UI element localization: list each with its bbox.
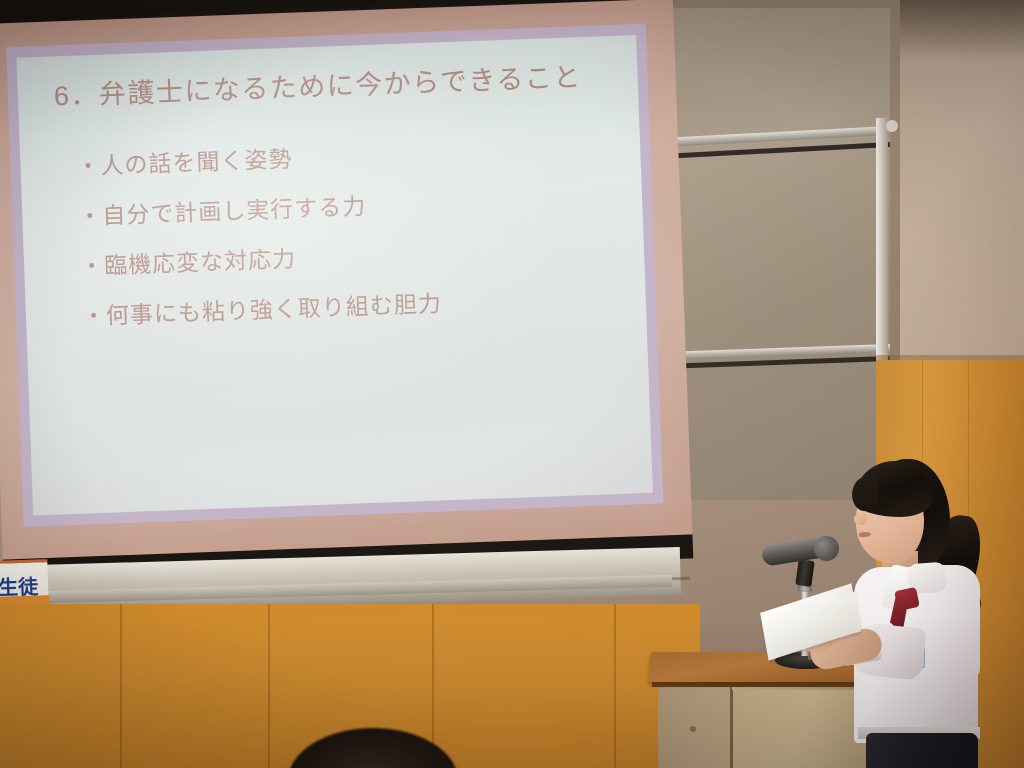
slide-bullet-list: ・人の話を聞く姿勢 ・自分で計画し実行する力 ・臨機応変な対応力 ・何事にも粘り…: [76, 134, 443, 331]
hair-fringe: [850, 476, 879, 513]
podium-fitting: [690, 726, 696, 732]
projection-screen: 6．弁護士になるために今からできること ・人の話を聞く姿勢 ・自分で計画し実行す…: [0, 0, 704, 590]
slide-bullet-3: ・臨機応変な対応力: [80, 234, 441, 281]
slide-bullet-2: ・自分で計画し実行する力: [78, 184, 439, 231]
projected-slide-border: 6．弁護士になるために今からできること ・人の話を聞く姿勢 ・自分で計画し実行す…: [6, 24, 663, 527]
projected-slide: 6．弁護士になるために今からできること ・人の話を聞く姿勢 ・自分で計画し実行す…: [17, 35, 653, 515]
slide-bullet-4: ・何事にも粘り強く取り組む胆力: [81, 284, 442, 331]
uniform-skirt: [866, 733, 978, 768]
slide-title: 6．弁護士になるために今からできること: [53, 55, 582, 113]
nose: [854, 513, 867, 525]
photograph-scene: 6．弁護士になるために今からできること ・人の話を聞く姿勢 ・自分で計画し実行す…: [0, 0, 1024, 768]
slide-bullet-1: ・人の話を聞く姿勢: [76, 134, 437, 181]
whiteboard-mount-knob: [886, 120, 898, 132]
student-presenter: [846, 455, 1006, 768]
